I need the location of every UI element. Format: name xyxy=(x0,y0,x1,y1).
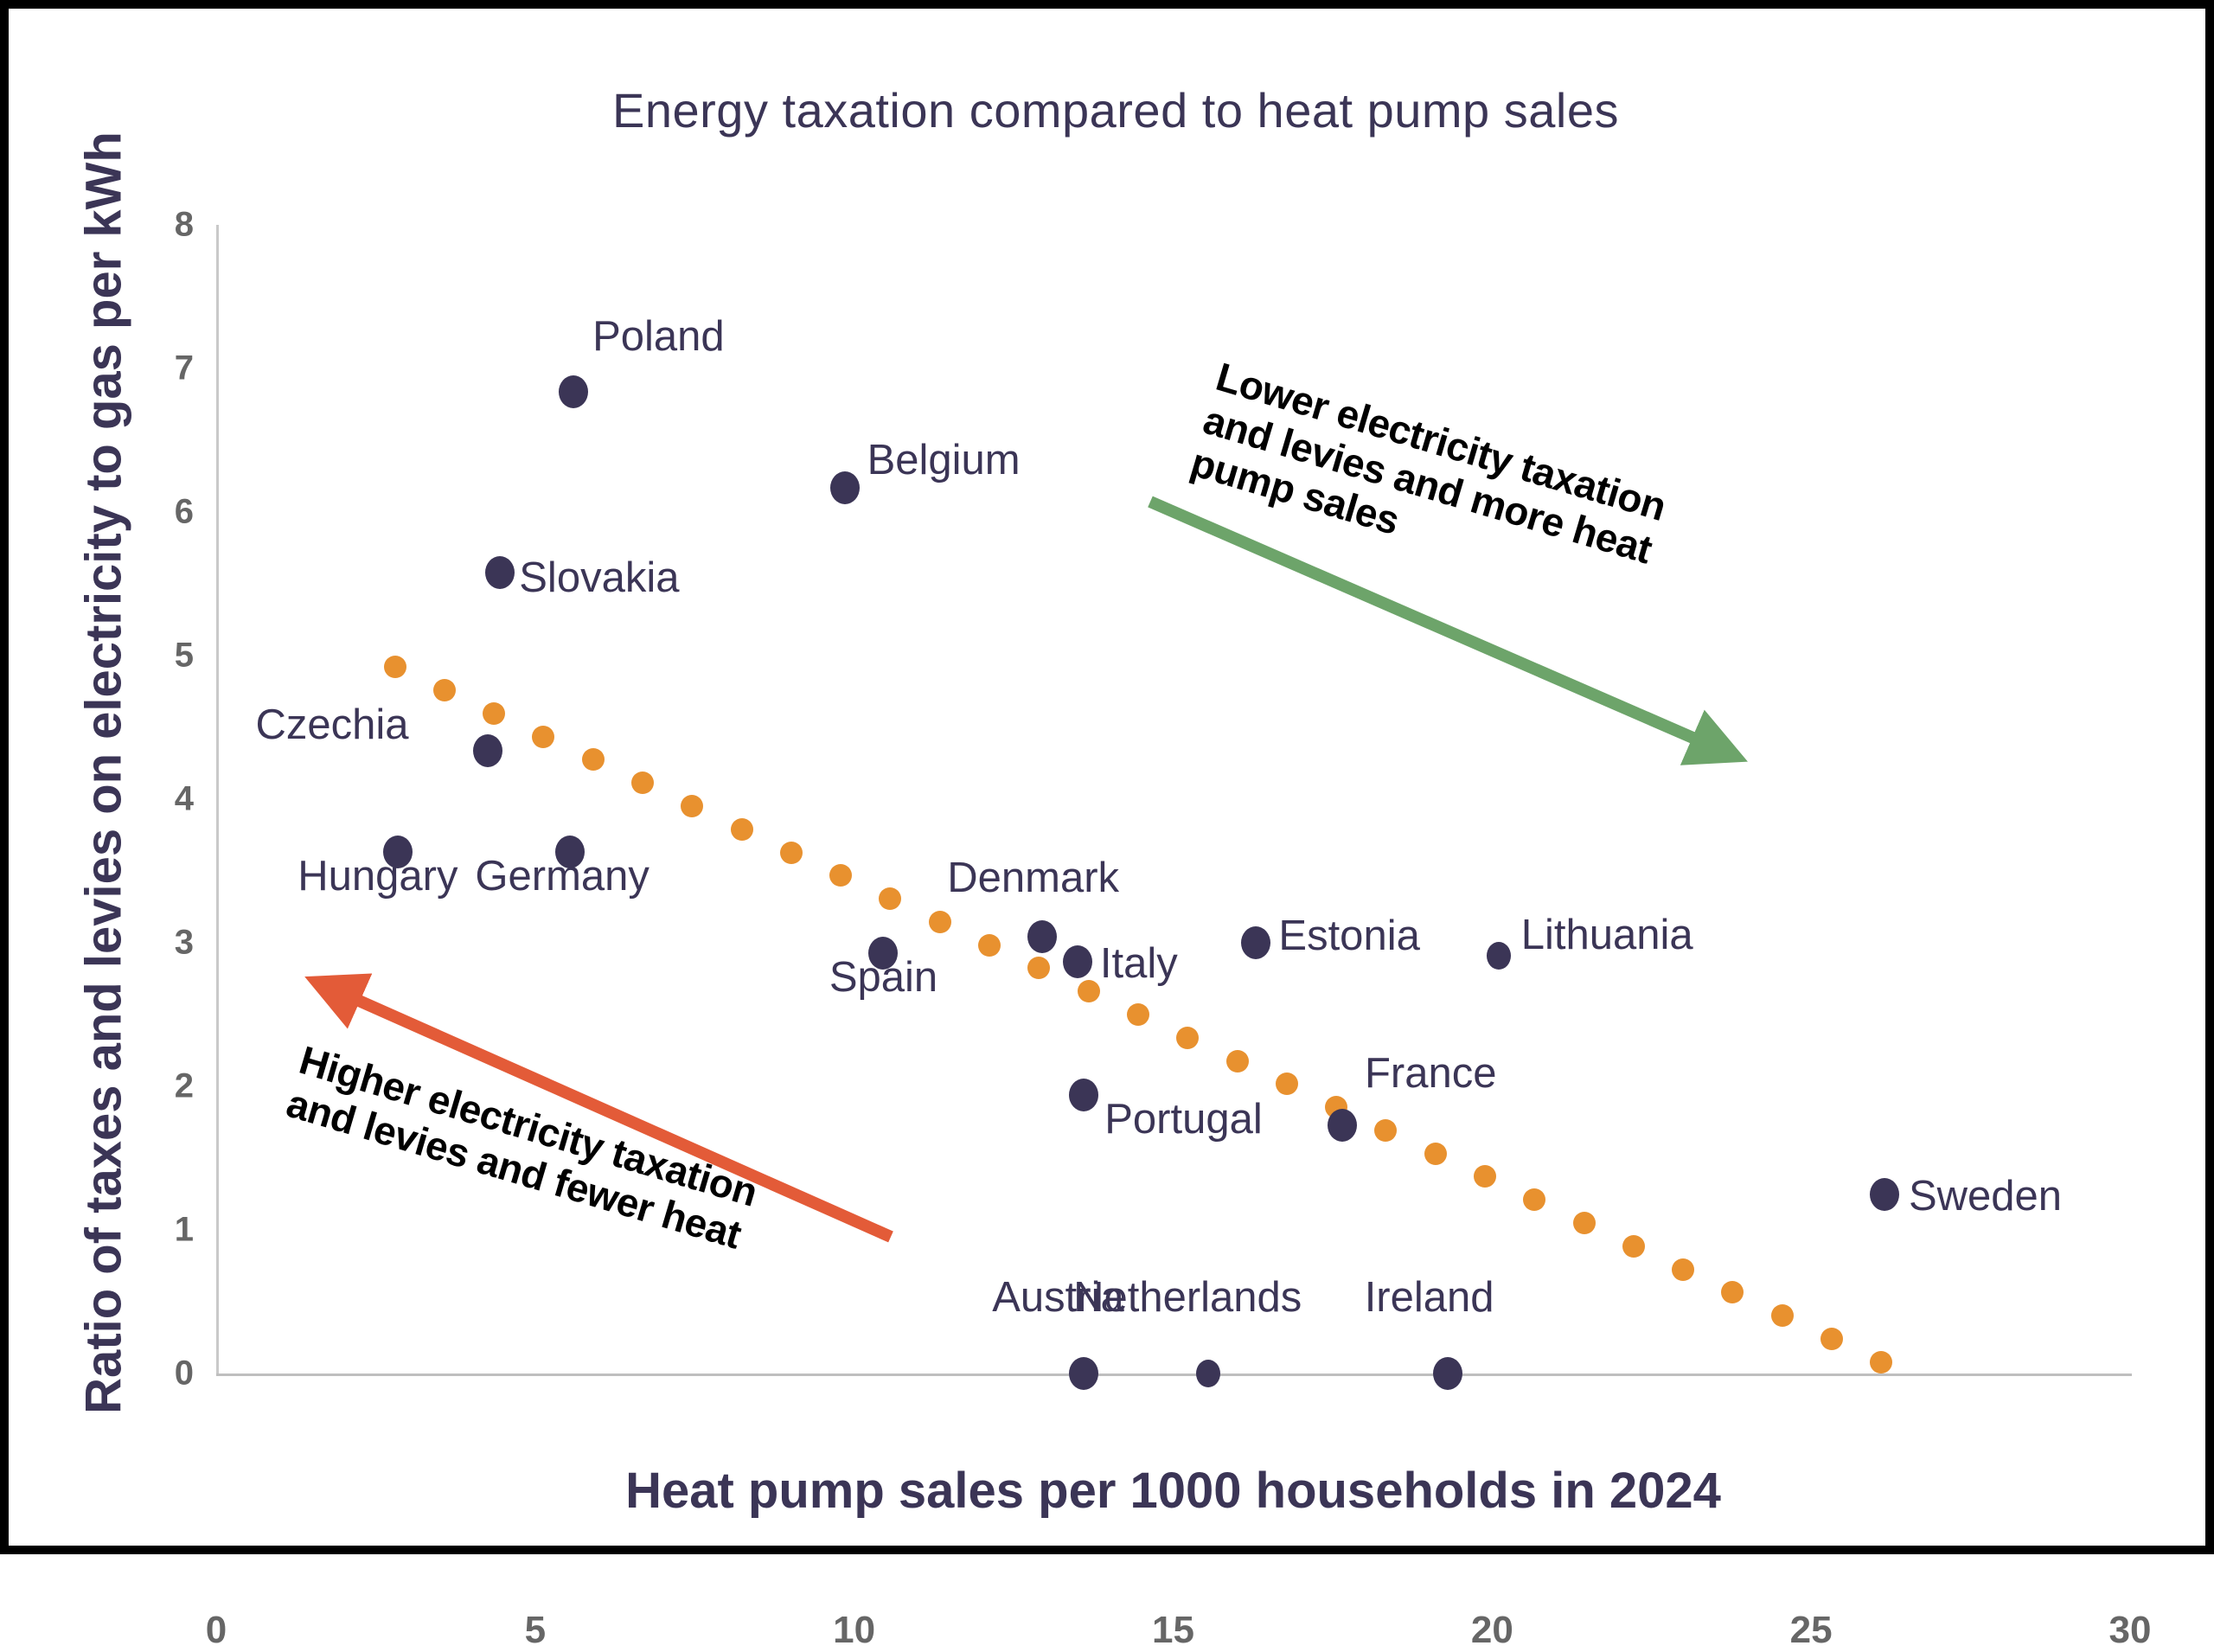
data-point-label: Ireland xyxy=(1365,1273,1494,1322)
data-point[interactable] xyxy=(1069,1079,1098,1111)
trendline-dot xyxy=(1078,980,1100,1002)
y-tick-label: 1 xyxy=(175,1211,194,1250)
x-axis-title: Heat pump sales per 1000 households in 2… xyxy=(216,1462,2130,1520)
y-tick-label: 3 xyxy=(175,924,194,963)
data-point-label: Estonia xyxy=(1278,912,1419,960)
trendline-dot xyxy=(1127,1003,1149,1026)
data-point-label: France xyxy=(1365,1049,1497,1098)
y-tick-label: 6 xyxy=(175,493,194,532)
x-tick-label: 30 xyxy=(2109,1609,2152,1652)
trendline-dot xyxy=(1573,1212,1596,1234)
trendline-dot xyxy=(1226,1050,1249,1073)
data-point-label: Hungary xyxy=(298,852,458,900)
trendline-dot xyxy=(879,887,901,910)
trendline-dot xyxy=(1176,1027,1199,1049)
data-point[interactable] xyxy=(1241,926,1270,959)
data-point-label: Italy xyxy=(1100,939,1178,988)
data-point[interactable] xyxy=(1870,1178,1899,1211)
data-point-label: Slovakia xyxy=(519,554,679,602)
page-title: Energy taxation compared to heat pump sa… xyxy=(9,82,2214,138)
chart-frame: Energy taxation compared to heat pump sa… xyxy=(0,0,2214,1554)
data-point[interactable] xyxy=(1196,1360,1220,1387)
trendline-dot xyxy=(929,911,951,933)
y-tick-label: 5 xyxy=(175,637,194,676)
data-point-label: Czechia xyxy=(256,701,409,749)
y-tick-label: 4 xyxy=(175,780,194,819)
trendline-dot xyxy=(1721,1281,1744,1303)
trendline-dot xyxy=(1820,1328,1843,1350)
trendline-dot xyxy=(1672,1258,1694,1281)
data-point-label: Netherlands xyxy=(1073,1273,1302,1322)
data-point[interactable] xyxy=(1487,942,1511,970)
trendline-dot xyxy=(1771,1304,1794,1327)
data-point[interactable] xyxy=(485,556,515,589)
x-tick-label: 0 xyxy=(206,1609,227,1652)
trendline-dot xyxy=(384,656,406,678)
trendline-dot xyxy=(1424,1143,1447,1165)
y-tick-label: 8 xyxy=(175,206,194,245)
trendline-dot xyxy=(483,702,505,725)
data-point-label: Germany xyxy=(475,852,649,900)
trendline-dot xyxy=(631,772,654,794)
data-point[interactable] xyxy=(1027,920,1057,953)
data-point[interactable] xyxy=(830,471,860,504)
trendline-dot xyxy=(532,726,554,748)
plot-area: 012345678 051015202530 PolandBelgiumSlov… xyxy=(216,225,2130,1373)
data-point-label: Belgium xyxy=(867,436,1021,484)
data-point-label: Lithuania xyxy=(1521,911,1693,959)
trendline-dot xyxy=(780,842,803,864)
data-point-label: Poland xyxy=(592,312,725,361)
y-axis-title: Ratio of taxes and levies on electricity… xyxy=(75,125,133,1422)
trendline-dot xyxy=(1474,1165,1496,1188)
y-tick-label: 2 xyxy=(175,1067,194,1106)
data-point[interactable] xyxy=(559,375,588,408)
data-point[interactable] xyxy=(1328,1109,1357,1142)
trendline-dot xyxy=(582,748,605,771)
trendline-dot xyxy=(681,795,703,817)
data-point-label: Portugal xyxy=(1104,1095,1263,1143)
trendline-dot xyxy=(1523,1188,1545,1211)
data-point-label: Sweden xyxy=(1909,1172,2062,1220)
x-tick-label: 25 xyxy=(1790,1609,1833,1652)
trendline-dot xyxy=(1027,957,1050,979)
trendline-dot xyxy=(829,864,852,887)
x-tick-label: 10 xyxy=(833,1609,875,1652)
trendline-dot xyxy=(731,818,753,841)
x-axis-line xyxy=(216,1373,2132,1376)
x-tick-label: 20 xyxy=(1471,1609,1513,1652)
trendline-dot xyxy=(978,934,1001,957)
trendline-dot xyxy=(433,679,456,701)
trendline-dot xyxy=(1622,1235,1645,1258)
y-tick-label: 7 xyxy=(175,349,194,388)
data-point[interactable] xyxy=(1063,945,1092,978)
trendline-dot xyxy=(1374,1119,1397,1142)
trendline-dot xyxy=(1276,1073,1298,1095)
data-point[interactable] xyxy=(1069,1357,1098,1390)
y-tick-label: 0 xyxy=(175,1354,194,1393)
trendline-dot xyxy=(1870,1351,1892,1373)
data-point-label: Denmark xyxy=(947,854,1119,902)
x-tick-label: 15 xyxy=(1152,1609,1194,1652)
data-point[interactable] xyxy=(473,734,502,767)
data-point-label: Spain xyxy=(829,953,937,1002)
x-tick-label: 5 xyxy=(525,1609,546,1652)
data-point[interactable] xyxy=(1433,1357,1462,1390)
